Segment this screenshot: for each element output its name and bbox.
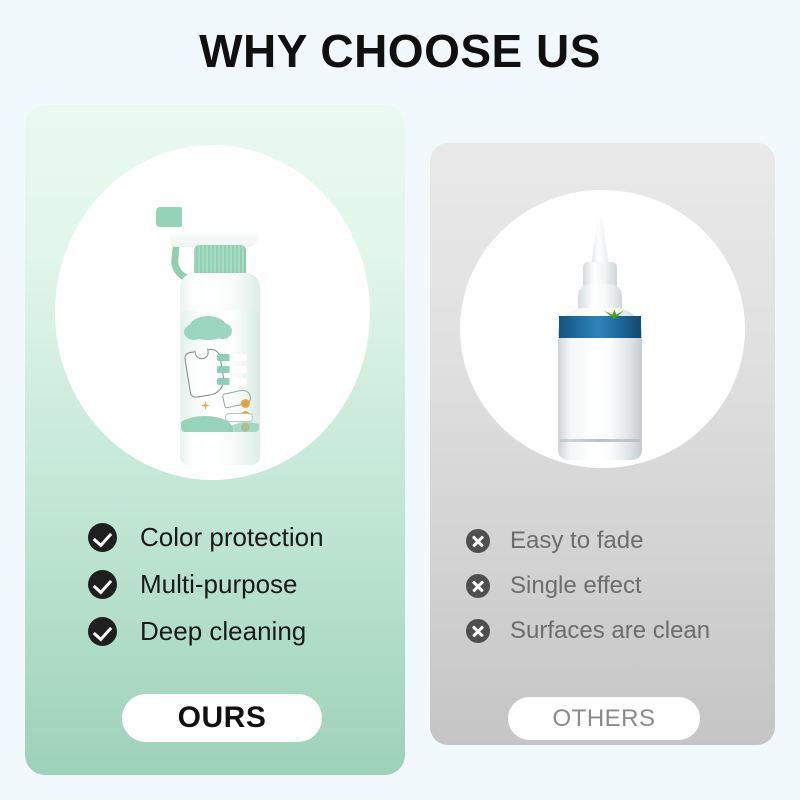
- label-bar: [217, 366, 247, 373]
- label-bar: [217, 378, 247, 385]
- list-item: Deep cleaning: [88, 618, 324, 645]
- check-circle-icon: [88, 523, 117, 552]
- check-circle-icon: [88, 570, 117, 599]
- others-product-image-squeeze-bottle: [552, 218, 648, 460]
- list-item: Easy to fade: [466, 528, 710, 553]
- others-badge: OTHERS: [508, 697, 700, 740]
- label-feature-bars: [217, 354, 247, 390]
- check-circle-icon: [88, 617, 117, 646]
- list-item: Color protection: [88, 524, 324, 551]
- spray-head-top: [176, 197, 250, 215]
- list-item: Multi-purpose: [88, 571, 324, 598]
- label-bar: [217, 354, 247, 361]
- ours-badge: OURS: [122, 694, 322, 742]
- spray-nozzle: [156, 207, 182, 227]
- ours-feature-list: Color protection Multi-purpose Deep clea…: [88, 524, 324, 665]
- list-item-label: Multi-purpose: [140, 569, 298, 600]
- spray-bottle-label: [181, 310, 259, 432]
- list-item: Single effect: [466, 573, 710, 598]
- ours-product-image-spray-bottle: [150, 175, 300, 465]
- x-circle-icon: [466, 574, 490, 598]
- list-item-label: Easy to fade: [510, 527, 643, 555]
- list-item-label: Color protection: [140, 522, 324, 553]
- list-item-label: Deep cleaning: [140, 616, 306, 647]
- label-sparkle-icon: [201, 401, 210, 410]
- label-pill-graphic: [225, 413, 253, 422]
- label-bottom-cloud-icon: [227, 422, 259, 432]
- squeeze-bottle-blue-band: [559, 316, 641, 338]
- squeeze-bottle-base-line: [560, 439, 640, 442]
- others-feature-list: Easy to fade Single effect Surfaces are …: [466, 528, 710, 663]
- page-title: WHY CHOOSE US: [0, 24, 800, 78]
- squeeze-bottle-nozzle-tip: [591, 218, 609, 266]
- list-item-label: Single effect: [510, 572, 642, 600]
- list-item: Surfaces are clean: [466, 618, 710, 643]
- x-circle-icon: [466, 529, 490, 553]
- label-cloud-icon: [189, 316, 227, 340]
- x-circle-icon: [466, 619, 490, 643]
- list-item-label: Surfaces are clean: [510, 617, 710, 645]
